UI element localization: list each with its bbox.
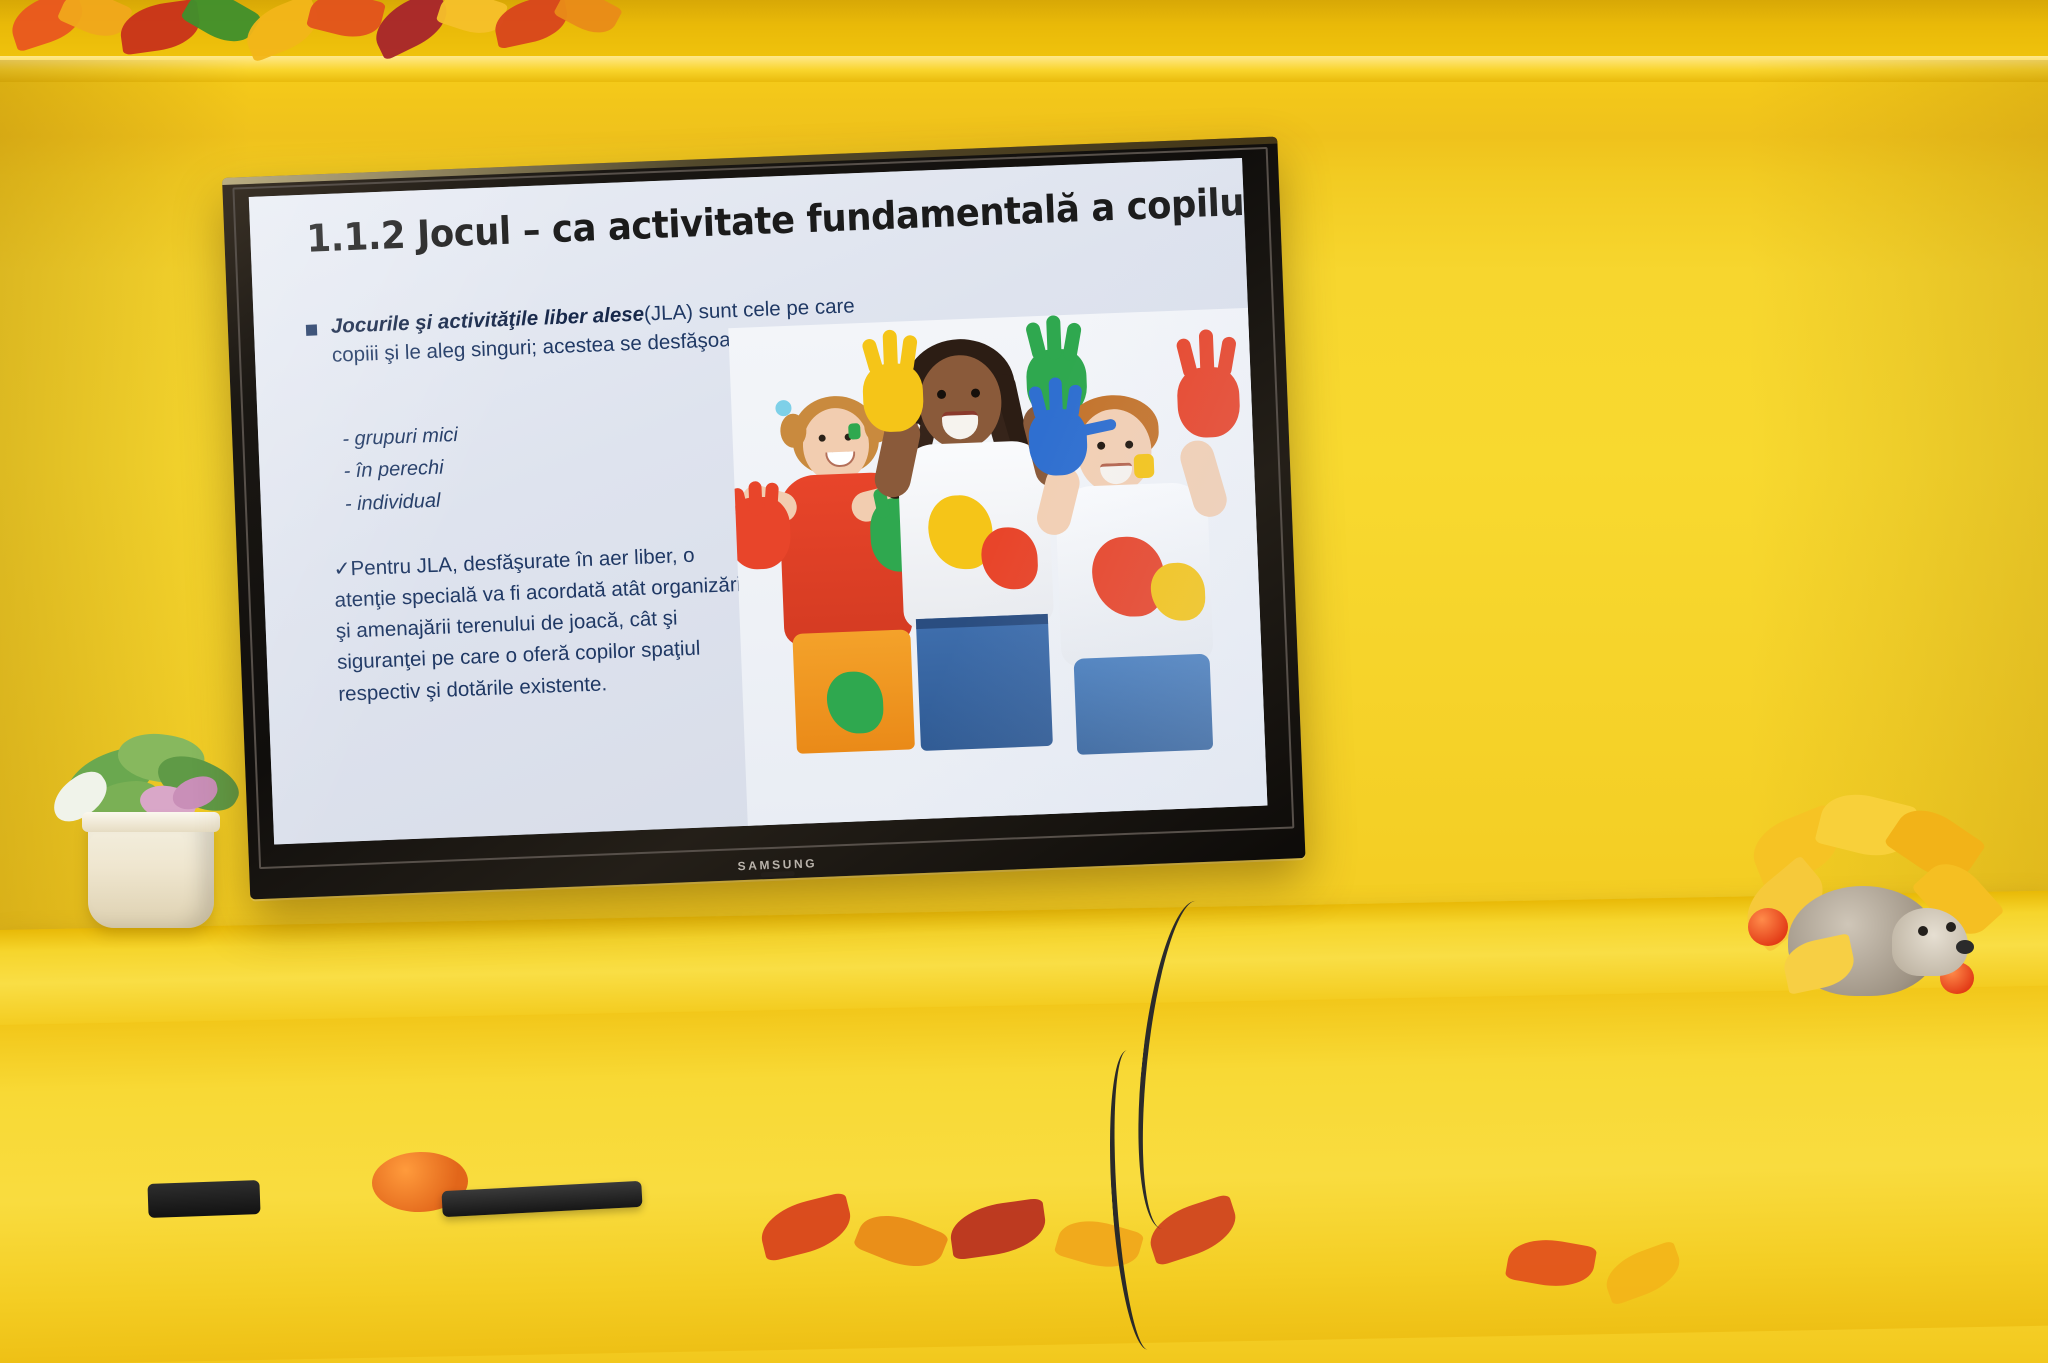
shelf-front-panel (0, 986, 2048, 1363)
list-item: - în perechi (343, 451, 460, 488)
television[interactable]: 1.1.2 Jocul – ca activitate fundamentală… (222, 137, 1306, 900)
room-scene: 1.1.2 Jocul – ca activitate fundamentală… (0, 0, 2048, 1363)
slide-title: 1.1.2 Jocul – ca activitate fundamentală… (306, 184, 1144, 261)
list-item: - individual (344, 484, 461, 521)
children-photo (728, 308, 1267, 826)
autumn-leaf-garland (0, 0, 760, 80)
flower-pot (88, 818, 214, 928)
check-paragraph: ✓Pentru JLA, desfăşurate în aer liber, o… (333, 537, 759, 709)
dash-list: - grupuri mici - în perechi - individual (342, 419, 461, 521)
presentation-slide: 1.1.2 Jocul – ca activitate fundamentală… (249, 158, 1268, 845)
hedgehog-decoration (1742, 790, 2002, 1010)
tv-bezel: 1.1.2 Jocul – ca activitate fundamentală… (222, 137, 1306, 900)
apple-decoration (1748, 908, 1788, 946)
checkmark-icon: ✓ (333, 557, 351, 581)
square-bullet-icon (306, 324, 317, 335)
list-item: - grupuri mici (342, 419, 459, 456)
flower-pot-rim (82, 812, 220, 832)
check-paragraph-text: Pentru JLA, desfăşurate în aer liber, o … (334, 544, 746, 706)
set-top-box[interactable] (147, 1180, 260, 1218)
ir-receiver (761, 871, 795, 877)
tv-screen[interactable]: 1.1.2 Jocul – ca activitate fundamentală… (249, 158, 1268, 845)
bullet-abbrev: (JLA) (644, 301, 694, 326)
